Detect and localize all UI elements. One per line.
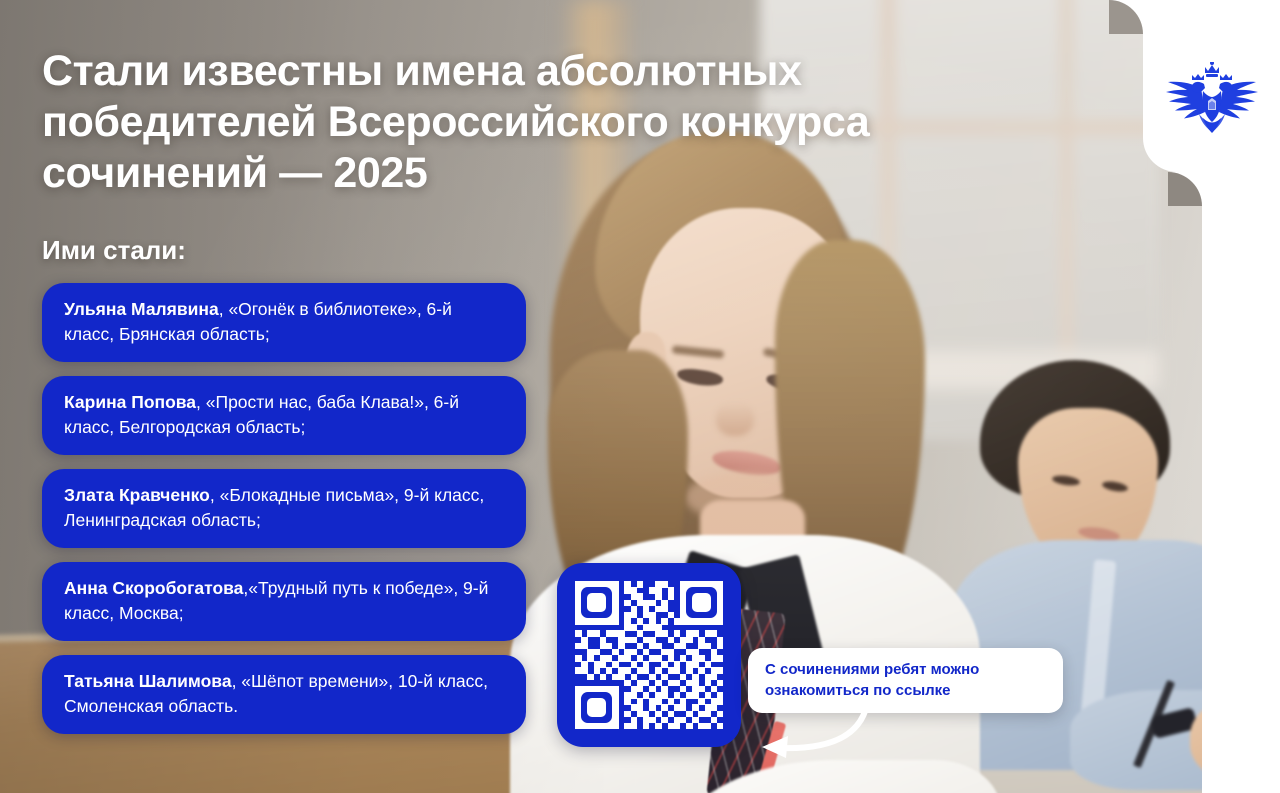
winner-card: Татьяна Шалимова, «Шёпот времени», 10-й … — [42, 655, 526, 734]
winner-name: Карина Попова — [64, 392, 196, 412]
winner-card: Карина Попова, «Прости нас, баба Клава!»… — [42, 376, 526, 455]
winner-card: Анна Скоробогатова,«Трудный путь к побед… — [42, 562, 526, 641]
callout-tooltip: С сочинениями ребят можно ознакомиться п… — [748, 648, 1063, 713]
winner-name: Татьяна Шалимова — [64, 671, 232, 691]
winner-name: Анна Скоробогатова — [64, 578, 243, 598]
qr-matrix — [575, 581, 723, 729]
side-panel-notch — [1168, 172, 1202, 206]
qr-code[interactable] — [557, 563, 741, 747]
logo-panel-notch — [1109, 0, 1143, 34]
winner-card: Злата Кравченко, «Блокадные письма», 9-й… — [42, 469, 526, 548]
page-title: Стали известны имена абсолютных победите… — [42, 46, 1132, 199]
winner-name: Злата Кравченко — [64, 485, 210, 505]
winner-card: Ульяна Малявина, «Огонёк в библиотеке», … — [42, 283, 526, 362]
double-headed-eagle-emblem — [1162, 62, 1262, 138]
content-overlay: Стали известны имена абсолютных победите… — [0, 0, 1280, 793]
winners-list: Ульяна Малявина, «Огонёк в библиотеке», … — [42, 283, 526, 748]
winner-name: Ульяна Малявина — [64, 299, 219, 319]
subtitle: Ими стали: — [42, 234, 186, 266]
poster-stage: Стали известны имена абсолютных победите… — [0, 0, 1280, 793]
